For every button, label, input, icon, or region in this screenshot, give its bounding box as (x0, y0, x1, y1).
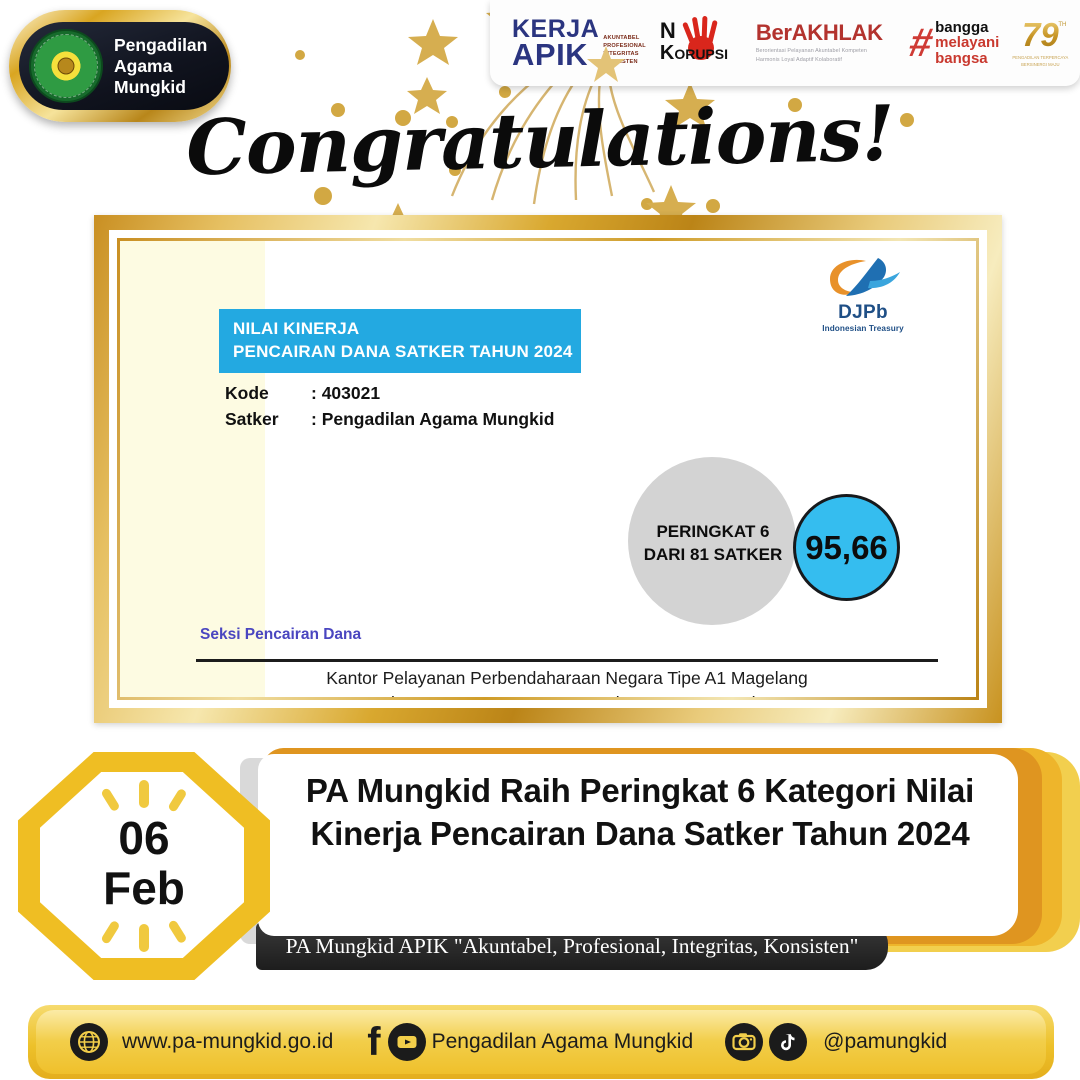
djpb-logo: DJPb Indonesian Treasury (808, 255, 918, 333)
certificate-title-line2: PENCAIRAN DANA SATKER TAHUN 2024 (233, 341, 581, 364)
youtube-icon[interactable] (388, 1023, 426, 1061)
field-label-kode: Kode (225, 381, 311, 407)
hash-icon: # (906, 27, 935, 59)
footer-website[interactable]: www.pa-mungkid.go.id (122, 1030, 333, 1054)
certificate-divider (196, 659, 938, 662)
djpb-swoosh-icon (808, 255, 918, 301)
instagram-icon[interactable] (725, 1023, 763, 1061)
anniv-sub1: PENGADILAN TERPERCAYA (1012, 55, 1068, 60)
main-headline: PA Mungkid Raih Peringkat 6 Kategori Nil… (270, 770, 1010, 856)
berakhlak-title: BerAKHLAK (756, 22, 906, 44)
footer-handle[interactable]: @pamungkid (823, 1030, 947, 1054)
field-row-kode: Kode : 403021 (225, 381, 554, 407)
address-line2: Jalan Veteran No 3, Kota Magelang, Jawa … (196, 691, 938, 697)
organization-badge: Pengadilan Agama Mungkid (3, 8, 238, 128)
kerja-apik-logo: KERJA APIK AKUNTABELPROFESIONALINTEGRITA… (512, 18, 646, 69)
certificate-title-line1: NILAI KINERJA (233, 318, 581, 341)
globe-icon[interactable] (70, 1023, 108, 1061)
court-seal-icon (29, 29, 103, 103)
date-month: Feb (18, 864, 270, 914)
footer-social-name[interactable]: Pengadilan Agama Mungkid (432, 1030, 694, 1054)
tiktok-icon[interactable] (769, 1023, 807, 1061)
anniversary-subtitle: PENGADILAN TERPERCAYA BERSINERGI MAJU (1009, 55, 1071, 68)
section-label: Seksi Pencairan Dana (200, 626, 361, 644)
field-row-satker: Satker : Pengadilan Agama Mungkid (225, 407, 554, 433)
campaign-logo-banner: KERJA APIK AKUNTABELPROFESIONALINTEGRITA… (490, 0, 1080, 86)
certificate-body: NILAI KINERJA PENCAIRAN DANA SATKER TAHU… (120, 241, 976, 697)
date-text: 06 Feb (18, 814, 270, 913)
footer-bar: www.pa-mungkid.go.id f Pengadilan Agama … (36, 1010, 1046, 1074)
djpb-name: DJPb (808, 302, 918, 324)
berakhlak-sub1: Berorientasi Pelayanan Akuntabel Kompete… (756, 48, 867, 54)
field-value-kode: : 403021 (311, 381, 380, 407)
address-line1: Kantor Pelayanan Perbendaharaan Negara T… (196, 666, 938, 691)
badge-pill: Pengadilan Agama Mungkid (19, 22, 229, 110)
no-korupsi-n: N (660, 18, 676, 44)
certificate-frame: NILAI KINERJA PENCAIRAN DANA SATKER TAHU… (94, 215, 1002, 723)
anniv-sub2: BERSINERGI MAJU (1021, 62, 1059, 67)
certificate-title-box: NILAI KINERJA PENCAIRAN DANA SATKER TAHU… (219, 309, 581, 373)
djpb-subtitle: Indonesian Treasury (808, 324, 918, 333)
field-label-satker: Satker (225, 407, 311, 433)
facebook-icon[interactable]: f (367, 1025, 380, 1059)
bangga-melayani-bangsa-logo: # bangga melayani bangsa (910, 20, 999, 66)
organization-name: Pengadilan Agama Mungkid (114, 35, 229, 98)
no-korupsi-logo: N KORUPSI (660, 16, 744, 70)
no-korupsi-k: KORUPSI (660, 42, 728, 65)
berakhlak-logo: BerAKHLAK Berorientasi Pelayanan Akuntab… (756, 22, 906, 63)
score-circle: 95,66 (793, 494, 900, 601)
bangga-line3: bangsa (935, 51, 999, 66)
anniversary-tm: TH (1058, 22, 1066, 28)
bangga-line2: melayani (935, 35, 999, 50)
berakhlak-sub2: Harmonis Loyal Adaptif Kolaboratif (756, 57, 842, 63)
certificate-address: Kantor Pelayanan Perbendaharaan Negara T… (196, 666, 938, 697)
anniversary-logo: TH 79 PENGADILAN TERPERCAYA BERSINERGI M… (1009, 18, 1071, 68)
apik-label: APIK (512, 41, 599, 69)
field-value-satker: : Pengadilan Agama Mungkid (311, 407, 554, 433)
date-badge: 06 Feb (18, 752, 270, 980)
certificate-fields: Kode : 403021 Satker : Pengadilan Agama … (225, 381, 554, 433)
seal-inner (44, 44, 88, 88)
date-day: 06 (18, 814, 270, 864)
berakhlak-subtitle: Berorientasi Pelayanan Akuntabel Kompete… (756, 47, 906, 63)
bangga-line1: bangga (935, 20, 999, 35)
